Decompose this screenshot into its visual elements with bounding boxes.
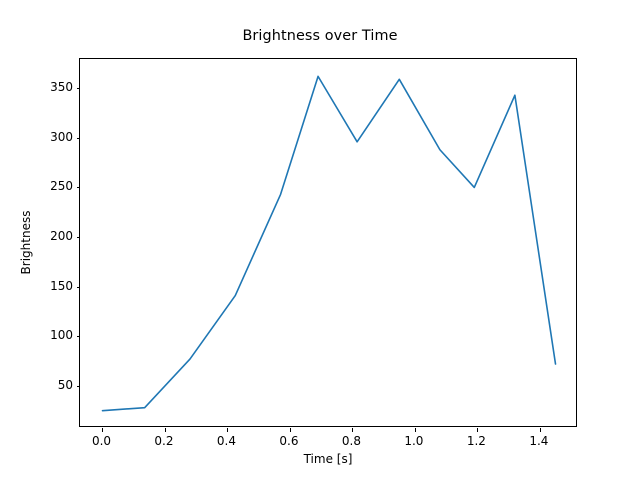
x-axis-label: Time [s] — [79, 452, 577, 466]
figure-canvas: Brightness over Time Brightness Time [s]… — [0, 0, 640, 480]
y-axis-tick-label: 350 — [30, 80, 73, 94]
x-axis-tick-mark — [415, 428, 416, 432]
y-axis-tick-label: 300 — [30, 130, 73, 144]
x-axis-tick-mark — [540, 428, 541, 432]
x-axis-tick-label: 0.2 — [154, 434, 173, 448]
y-axis-tick-label: 50 — [30, 378, 73, 392]
x-axis-tick-label: 0.4 — [217, 434, 236, 448]
x-axis-tick-mark — [102, 428, 103, 432]
y-axis-tick-label: 250 — [30, 179, 73, 193]
y-axis-tick-mark — [77, 287, 81, 288]
line-series-svg — [80, 59, 578, 428]
y-axis-tick-label: 100 — [30, 328, 73, 342]
y-axis-tick-mark — [77, 386, 81, 387]
y-axis-tick-mark — [77, 138, 81, 139]
y-axis-tick-mark — [77, 187, 81, 188]
x-axis-tick-mark — [165, 428, 166, 432]
x-axis-tick-mark — [290, 428, 291, 432]
x-axis-tick-label: 0.8 — [342, 434, 361, 448]
y-axis-tick-mark — [77, 88, 81, 89]
x-axis-tick-label: 1.2 — [467, 434, 486, 448]
x-axis-tick-label: 1.0 — [404, 434, 423, 448]
y-axis-tick-mark — [77, 336, 81, 337]
y-axis-tick-label: 200 — [30, 229, 73, 243]
x-axis-tick-mark — [352, 428, 353, 432]
x-axis-tick-label: 0.0 — [92, 434, 111, 448]
y-axis-tick-mark — [77, 237, 81, 238]
x-axis-tick-label: 1.4 — [529, 434, 548, 448]
x-axis-tick-label: 0.6 — [279, 434, 298, 448]
x-axis-tick-mark — [227, 428, 228, 432]
brightness-line — [102, 76, 555, 410]
plot-area — [79, 58, 577, 427]
y-axis-tick-label: 150 — [30, 279, 73, 293]
page-title: Brightness over Time — [0, 28, 640, 44]
x-axis-tick-mark — [477, 428, 478, 432]
